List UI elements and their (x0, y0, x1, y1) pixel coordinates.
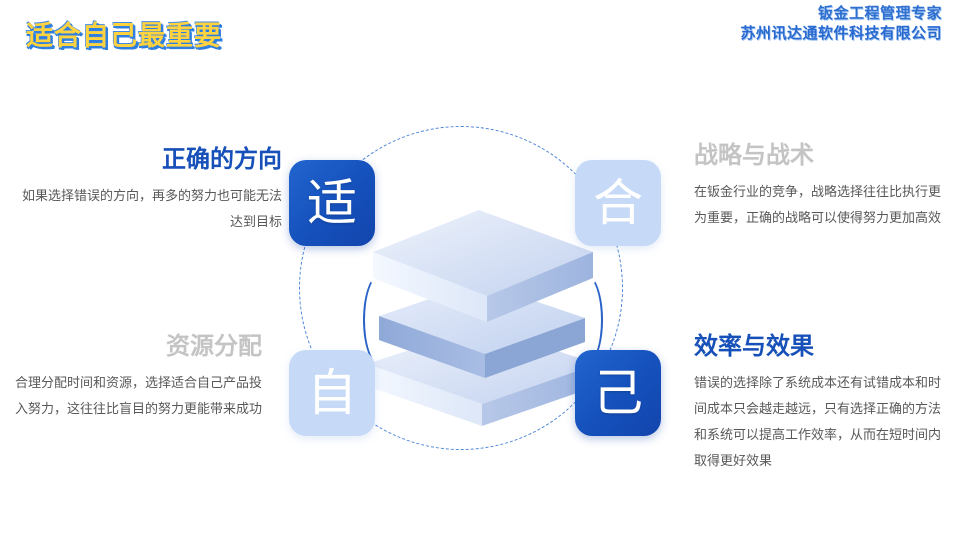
block-direction-heading: 正确的方向 (10, 146, 282, 174)
tile-zi[interactable]: 自 (289, 350, 375, 436)
tile-he[interactable]: 合 (575, 160, 661, 246)
block-efficiency-body: 错误的选择除了系统成本还有试错成本和时间成本只会越走越远，只有选择正确的方法和系… (694, 370, 948, 474)
tile-shi[interactable]: 适 (289, 160, 375, 246)
block-direction: 正确的方向 如果选择错误的方向，再多的努力也可能无法达到目标 (10, 146, 282, 235)
block-direction-body: 如果选择错误的方向，再多的努力也可能无法达到目标 (10, 183, 282, 235)
block-efficiency-heading: 效率与效果 (694, 333, 948, 361)
slide-title: 适合自己最重要 (26, 14, 222, 53)
block-strategy-body: 在钣金行业的竞争，战略选择往往比执行更为重要，正确的战略可以使得努力更加高效 (694, 179, 948, 231)
tile-ji[interactable]: 己 (575, 350, 661, 436)
slide-canvas: 适合自己最重要 钣金工程管理专家 苏州讯达通软件科技有限公司 正确的方向 如果选… (0, 0, 960, 540)
stacked-boxes-illustration (357, 196, 607, 426)
block-resource-heading: 资源分配 (6, 333, 262, 361)
arc-left-decoration (363, 274, 397, 366)
block-strategy-heading: 战略与战术 (694, 142, 948, 170)
center-diagram: 适 合 自 己 (283, 120, 683, 460)
brand-company-name: 苏州讯达通软件科技有限公司 (740, 24, 942, 44)
brand-tagline: 钣金工程管理专家 (740, 4, 942, 24)
brand-block: 钣金工程管理专家 苏州讯达通软件科技有限公司 (740, 4, 942, 45)
block-resource: 资源分配 合理分配时间和资源，选择适合自己产品投入努力，这往往比盲目的努力更能带… (6, 333, 262, 422)
block-efficiency: 效率与效果 错误的选择除了系统成本还有试错成本和时间成本只会越走越远，只有选择正… (694, 333, 948, 474)
block-resource-body: 合理分配时间和资源，选择适合自己产品投入努力，这往往比盲目的努力更能带来成功 (6, 370, 262, 422)
block-strategy: 战略与战术 在钣金行业的竞争，战略选择往往比执行更为重要，正确的战略可以使得努力… (694, 142, 948, 231)
